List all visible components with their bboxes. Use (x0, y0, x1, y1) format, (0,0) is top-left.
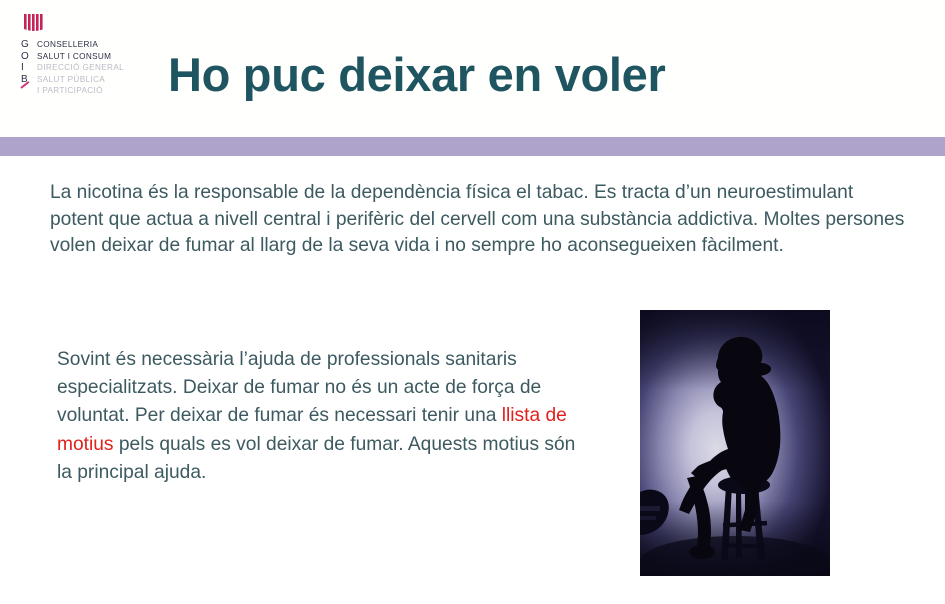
paragraph-text-part1: Sovint és necessària l’ajuda de professi… (57, 349, 541, 426)
logo-line-salut-consum: SALUT I CONSUM (37, 51, 124, 63)
logo-line-salut-publica: SALUT PÚBLICA (37, 74, 124, 86)
goib-logo: G O I B CONSELLERIA SALUT I CONSUM DIREC… (21, 13, 161, 95)
logo-slash-icon (21, 85, 30, 97)
slide-header: G O I B CONSELLERIA SALUT I CONSUM DIREC… (0, 0, 945, 137)
paragraph-professional-help: Sovint és necessària l’ajuda de professi… (57, 346, 577, 487)
logo-acronym: G O I B (21, 39, 30, 97)
paragraph-text-part2: pels quals es vol deixar de fumar. Aques… (57, 434, 575, 483)
logo-textblock: G O I B CONSELLERIA SALUT I CONSUM DIREC… (21, 39, 124, 97)
header-divider-band (0, 137, 945, 156)
logo-line-participacio: I PARTICIPACIÓ (37, 85, 124, 97)
logo-acronym-letter-g: G (21, 39, 30, 51)
logo-department-lines: CONSELLERIA SALUT I CONSUM DIRECCIÓ GENE… (37, 39, 124, 97)
slide-canvas: G O I B CONSELLERIA SALUT I CONSUM DIREC… (0, 0, 945, 604)
slide-title: Ho puc deixar en voler (168, 47, 928, 102)
logo-acronym-letter-o: O (21, 51, 30, 63)
logo-line-direccio: DIRECCIÓ GENERAL (37, 62, 124, 74)
balearic-islands-crest-icon (23, 13, 48, 35)
logo-line-conselleria: CONSELLERIA (37, 39, 124, 51)
logo-acronym-letter-i: I (21, 62, 30, 74)
paragraph-nicotine: La nicotina és la responsable de la depe… (50, 180, 905, 260)
smoker-silhouette-photo (640, 310, 830, 576)
